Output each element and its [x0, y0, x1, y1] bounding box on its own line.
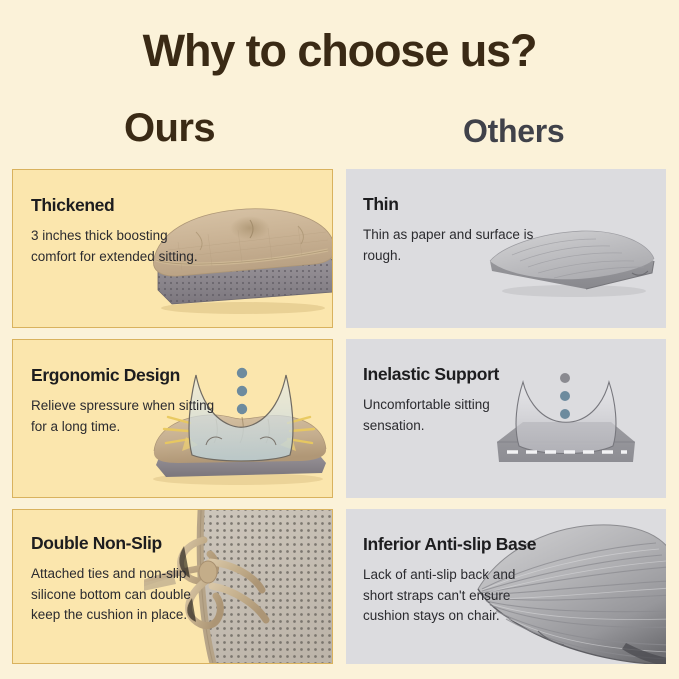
card-text-block: Inelastic Support Uncomfortable sitting … — [363, 365, 538, 436]
card-text-block: Ergonomic Design Relieve spressure when … — [31, 366, 216, 437]
card-others-thin: Thin Thin as paper and surface is rough. — [346, 169, 666, 328]
card-title: Thin — [363, 195, 538, 214]
card-title: Thickened — [31, 196, 216, 215]
column-heading-others: Others — [463, 115, 564, 147]
card-body: Thin as paper and surface is rough. — [363, 225, 538, 266]
card-title: Ergonomic Design — [31, 366, 216, 385]
card-body: 3 inches thick boosting comfort for exte… — [31, 226, 216, 267]
column-heading-ours: Ours — [124, 108, 215, 148]
card-others-inelastic: Inelastic Support Uncomfortable sitting … — [346, 339, 666, 498]
card-text-block: Thin Thin as paper and surface is rough. — [363, 195, 538, 266]
card-title: Inferior Anti-slip Base — [363, 535, 538, 554]
card-title: Inelastic Support — [363, 365, 538, 384]
card-ours-thickened: Thickened 3 inches thick boosting comfor… — [12, 169, 333, 328]
infographic-page: Why to choose us? Ours Others Thickened … — [0, 0, 679, 679]
card-body: Relieve spressure when sitting for a lon… — [31, 396, 216, 437]
card-body: Lack of anti-slip back and short straps … — [363, 565, 538, 627]
card-ours-ergonomic: Ergonomic Design Relieve spressure when … — [12, 339, 333, 498]
pressure-dots — [560, 373, 570, 419]
card-body: Uncomfortable sitting sensation. — [363, 395, 538, 436]
card-text-block: Thickened 3 inches thick boosting comfor… — [31, 196, 216, 267]
page-title: Why to choose us? — [0, 27, 679, 74]
card-ours-double-non-slip: Double Non-Slip Attached ties and non-sl… — [12, 509, 333, 664]
card-title: Double Non-Slip — [31, 534, 216, 553]
card-text-block: Inferior Anti-slip Base Lack of anti-sli… — [363, 535, 538, 627]
card-body: Attached ties and non-slip silicone bott… — [31, 564, 216, 626]
card-text-block: Double Non-Slip Attached ties and non-sl… — [31, 534, 216, 626]
pressure-dots — [237, 368, 247, 414]
card-others-inferior-base: Inferior Anti-slip Base Lack of anti-sli… — [346, 509, 666, 664]
